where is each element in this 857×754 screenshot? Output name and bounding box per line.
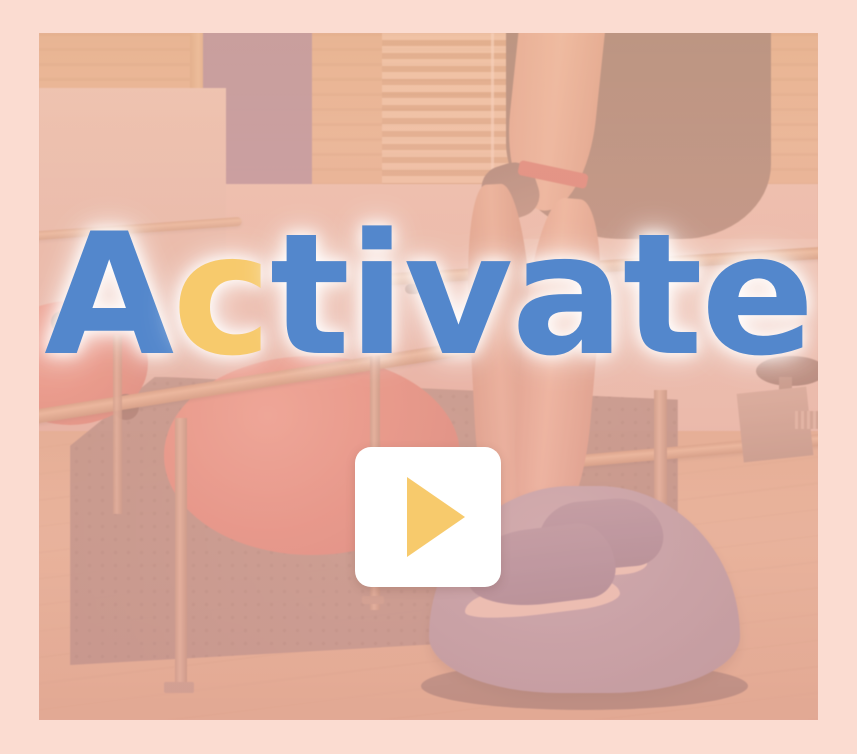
- play-button[interactable]: [355, 447, 501, 587]
- page-title: Activate: [39, 211, 818, 379]
- play-triangle-icon: [407, 477, 465, 557]
- title-segment-accent: c: [172, 197, 270, 393]
- title-segment-1: A: [44, 197, 172, 393]
- video-card: Activate: [0, 0, 857, 754]
- title-segment-2: tivate: [270, 197, 813, 393]
- video-thumbnail[interactable]: Activate: [39, 33, 818, 720]
